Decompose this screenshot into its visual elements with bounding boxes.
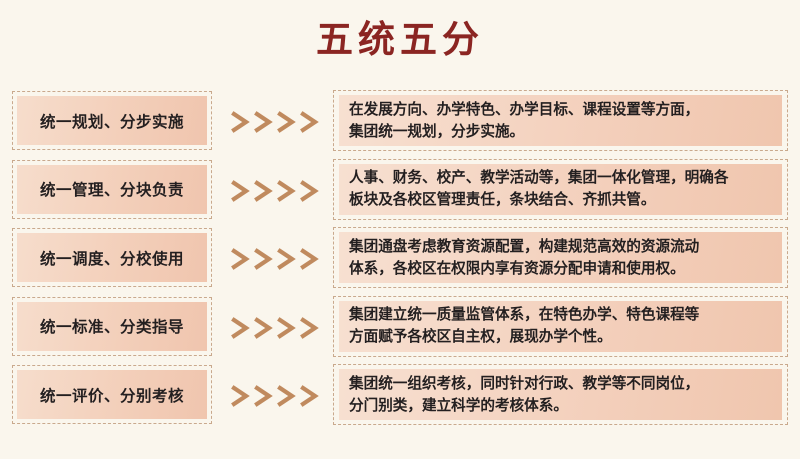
arrow-connector (225, 225, 330, 294)
arrow-connector (225, 294, 330, 363)
arrow-connector (225, 362, 330, 431)
description-line: 板块及各校区管理责任，条块结合、齐抓共管。 (349, 189, 772, 211)
description-box[interactable]: 集团统一组织考核，同时针对行政、教学等不同岗位， 分门别类，建立科学的考核体系。 (333, 364, 788, 425)
description-line: 集团统一规划，分步实施。 (349, 121, 772, 143)
infographic-page: 五统五分 统一规划、分步实施 (0, 0, 800, 459)
description-line: 集团通盘考虑教育资源配置，构建规范高效的资源流动 (349, 236, 772, 258)
table-row: 统一规划、分步实施 在发展方向、办学特色、办学目标、课程设置等方面， 集团统一规… (0, 88, 800, 157)
rows-container: 统一规划、分步实施 在发展方向、办学特色、办学目标、课程设置等方面， 集团统一规… (0, 88, 800, 431)
principle-chip[interactable]: 统一规划、分步实施 (12, 91, 212, 150)
chevron-right-icon (230, 178, 326, 204)
description-box-inner: 在发展方向、办学特色、办学目标、课程设置等方面， 集团统一规划，分步实施。 (339, 95, 782, 146)
principle-label: 统一管理、分块负责 (40, 178, 184, 200)
principle-label: 统一规划、分步实施 (40, 110, 184, 132)
description-line: 人事、财务、校产、教学活动等，集团一体化管理，明确各 (349, 167, 772, 189)
arrow-connector (225, 88, 330, 157)
table-row: 统一评价、分别考核 集团统一组织考核，同时针对行政、教学等不同岗位， 分门别类，… (0, 362, 800, 431)
description-line: 集团统一组织考核，同时针对行政、教学等不同岗位， (349, 373, 772, 395)
principle-chip-inner: 统一管理、分块负责 (17, 165, 207, 214)
description-line: 分门别类，建立科学的考核体系。 (349, 395, 772, 417)
description-box-inner: 集团统一组织考核，同时针对行政、教学等不同岗位， 分门别类，建立科学的考核体系。 (339, 369, 782, 420)
description-box-inner: 人事、财务、校产、教学活动等，集团一体化管理，明确各 板块及各校区管理责任，条块… (339, 164, 782, 215)
description-line: 方面赋予各校区自主权，展现办学个性。 (349, 326, 772, 348)
principle-label: 统一评价、分别考核 (40, 384, 184, 406)
principle-chip-inner: 统一规划、分步实施 (17, 96, 207, 145)
description-box[interactable]: 人事、财务、校产、教学活动等，集团一体化管理，明确各 板块及各校区管理责任，条块… (333, 159, 788, 220)
table-row: 统一标准、分类指导 集团建立统一质量监管体系，在特色办学、特色课程等 方面赋予各… (0, 294, 800, 363)
chevron-right-icon (230, 109, 326, 135)
principle-label: 统一调度、分校使用 (40, 247, 184, 269)
principle-chip[interactable]: 统一标准、分类指导 (12, 297, 212, 356)
principle-chip-inner: 统一调度、分校使用 (17, 233, 207, 282)
principle-label: 统一标准、分类指导 (40, 315, 184, 337)
principle-chip-inner: 统一评价、分别考核 (17, 370, 207, 419)
description-box[interactable]: 集团通盘考虑教育资源配置，构建规范高效的资源流动 体系，各校区在权限内享有资源分… (333, 227, 788, 288)
chevron-right-icon (230, 246, 326, 272)
chevron-right-icon (230, 315, 326, 341)
description-box-inner: 集团建立统一质量监管体系，在特色办学、特色课程等 方面赋予各校区自主权，展现办学… (339, 301, 782, 352)
table-row: 统一管理、分块负责 人事、财务、校产、教学活动等，集团一体化管理，明确各 板块及… (0, 157, 800, 226)
description-box-inner: 集团通盘考虑教育资源配置，构建规范高效的资源流动 体系，各校区在权限内享有资源分… (339, 232, 782, 283)
principle-chip[interactable]: 统一管理、分块负责 (12, 160, 212, 219)
description-line: 在发展方向、办学特色、办学目标、课程设置等方面， (349, 99, 772, 121)
table-row: 统一调度、分校使用 集团通盘考虑教育资源配置，构建规范高效的资源流动 体系，各校… (0, 225, 800, 294)
description-box[interactable]: 集团建立统一质量监管体系，在特色办学、特色课程等 方面赋予各校区自主权，展现办学… (333, 296, 788, 357)
principle-chip-inner: 统一标准、分类指导 (17, 302, 207, 351)
arrow-connector (225, 157, 330, 226)
page-title: 五统五分 (0, 18, 800, 64)
chevron-right-icon (230, 383, 326, 409)
description-line: 集团建立统一质量监管体系，在特色办学、特色课程等 (349, 304, 772, 326)
description-box[interactable]: 在发展方向、办学特色、办学目标、课程设置等方面， 集团统一规划，分步实施。 (333, 90, 788, 151)
principle-chip[interactable]: 统一评价、分别考核 (12, 365, 212, 424)
principle-chip[interactable]: 统一调度、分校使用 (12, 228, 212, 287)
description-line: 体系，各校区在权限内享有资源分配申请和使用权。 (349, 258, 772, 280)
